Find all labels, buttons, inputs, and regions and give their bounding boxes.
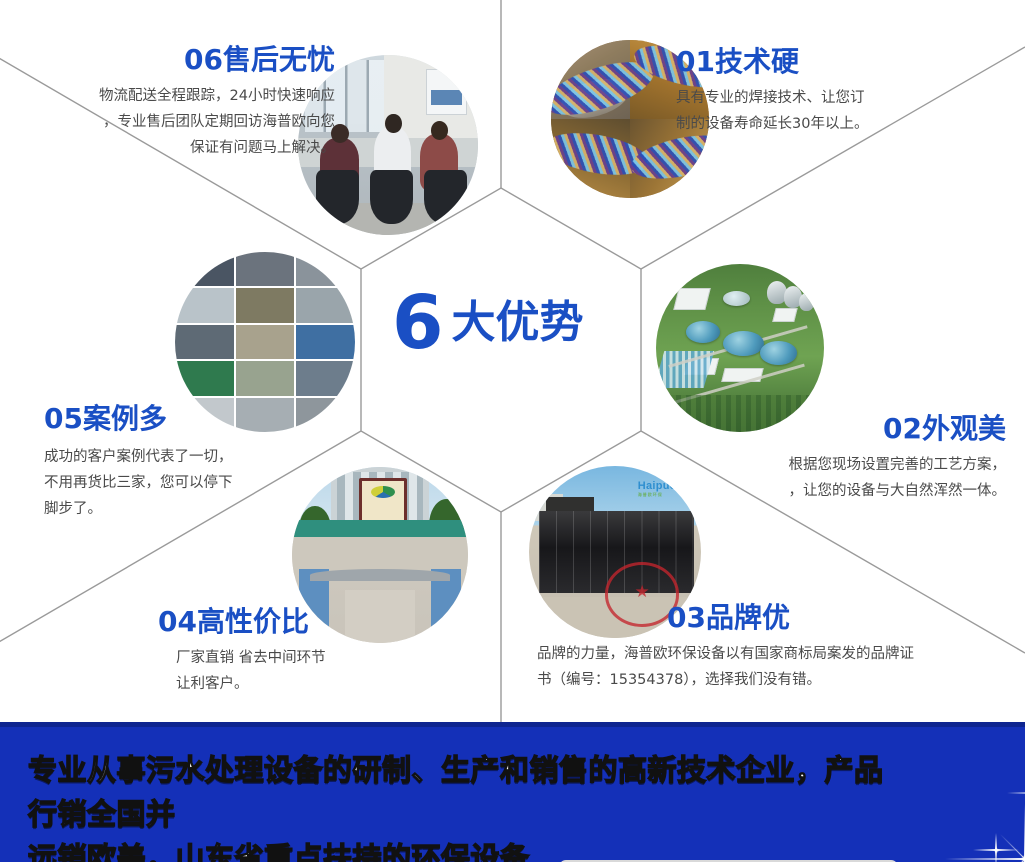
sparkle-icon-2 [998, 748, 1025, 838]
center-number: 6 [392, 290, 444, 357]
advantage-02-text: 02外观美 根据您现场设置完善的工艺方案， ，让您的设备与大自然浑然一体。 [690, 415, 1006, 505]
advantage-06-desc-line-1: 物流配送全程跟踪，24小时快速响应 [10, 84, 335, 110]
banner-text: 专业从事污水处理设备的研制、生产和销售的高新技术企业，产品行销全国并 远销欧美，… [28, 748, 898, 862]
haipuou-logo-sub: 海普欧环保 [638, 492, 684, 498]
banner-line-1: 专业从事污水处理设备的研制、生产和销售的高新技术企业，产品行销全国并 [28, 748, 898, 836]
banner-line-2: 远销欧美，山东省重点扶持的环保设备企业。 [28, 836, 539, 862]
bottom-banner: 专业从事污水处理设备的研制、生产和销售的高新技术企业，产品行销全国并 远销欧美，… [0, 722, 1025, 862]
advantage-04-text: 04高性价比 厂家直销 省去中间环节 让利客户。 [158, 608, 458, 698]
advantage-04-desc-line-1: 厂家直销 省去中间环节 [176, 646, 458, 672]
advantage-01-desc-line-2: 制的设备寿命延长30年以上。 [676, 112, 1006, 138]
advantage-05-desc-line-1: 成功的客户案例代表了一切， [44, 445, 344, 471]
advantage-06-desc-line-3: 保证有问题马上解决。 [10, 136, 335, 162]
advantage-05-desc-line-3: 脚步了。 [44, 497, 344, 523]
advantage-05-desc-line-2: 不用再货比三家，您可以停下 [44, 471, 344, 497]
sparkle-icon-3 [966, 820, 1025, 862]
advantage-03-heading: 03品牌优 [667, 604, 957, 632]
center-label-text: 大优势 [452, 301, 584, 345]
advantage-01-text: 01技术硬 具有专业的焊接技术、让您订 制的设备寿命延长30年以上。 [676, 48, 1006, 138]
advantage-06-desc-line-2: ，专业售后团队定期回访海普欧向您 [10, 110, 335, 136]
advantage-01-heading: 01技术硬 [676, 48, 1006, 76]
advantage-01-desc-line-1: 具有专业的焊接技术、让您订 [676, 86, 1006, 112]
banner-top-rule [0, 722, 1025, 727]
advantage-03-text: 03品牌优 品牌的力量，海普欧环保设备以有国家商标局案发的品牌证 书（编号：15… [537, 604, 957, 694]
advantage-02-desc-line-1: 根据您现场设置完善的工艺方案， [690, 453, 1006, 479]
infographic-root: 06售后无忧 物流配送全程跟踪，24小时快速响应 ，专业售后团队定期回访海普欧向… [0, 0, 1025, 862]
advantage-02-image [656, 264, 824, 432]
advantage-03-desc-line-2: 书（编号：15354378），选择我们没有错。 [537, 668, 957, 694]
advantage-05-heading: 05案例多 [44, 405, 344, 433]
sparkle-icon-1 [940, 774, 1025, 862]
advantage-04-heading: 04高性价比 [158, 608, 458, 636]
advantage-06-text: 06售后无忧 物流配送全程跟踪，24小时快速响应 ，专业售后团队定期回访海普欧向… [10, 46, 335, 161]
advantage-05-text: 05案例多 成功的客户案例代表了一切， 不用再货比三家，您可以停下 脚步了。 [44, 405, 344, 522]
haipuou-logo: Haipuou 海普欧环保 [638, 480, 684, 498]
advantage-03-desc-line-1: 品牌的力量，海普欧环保设备以有国家商标局案发的品牌证 [537, 642, 957, 668]
haipuou-logo-text: Haipuou [638, 480, 684, 492]
center-headline: 6 大优势 [392, 290, 584, 357]
advantage-02-desc-line-2: ，让您的设备与大自然浑然一体。 [690, 479, 1006, 505]
advantage-06-heading: 06售后无忧 [10, 46, 335, 74]
advantage-04-desc-line-2: 让利客户。 [176, 672, 458, 698]
advantage-02-heading: 02外观美 [690, 415, 1006, 443]
